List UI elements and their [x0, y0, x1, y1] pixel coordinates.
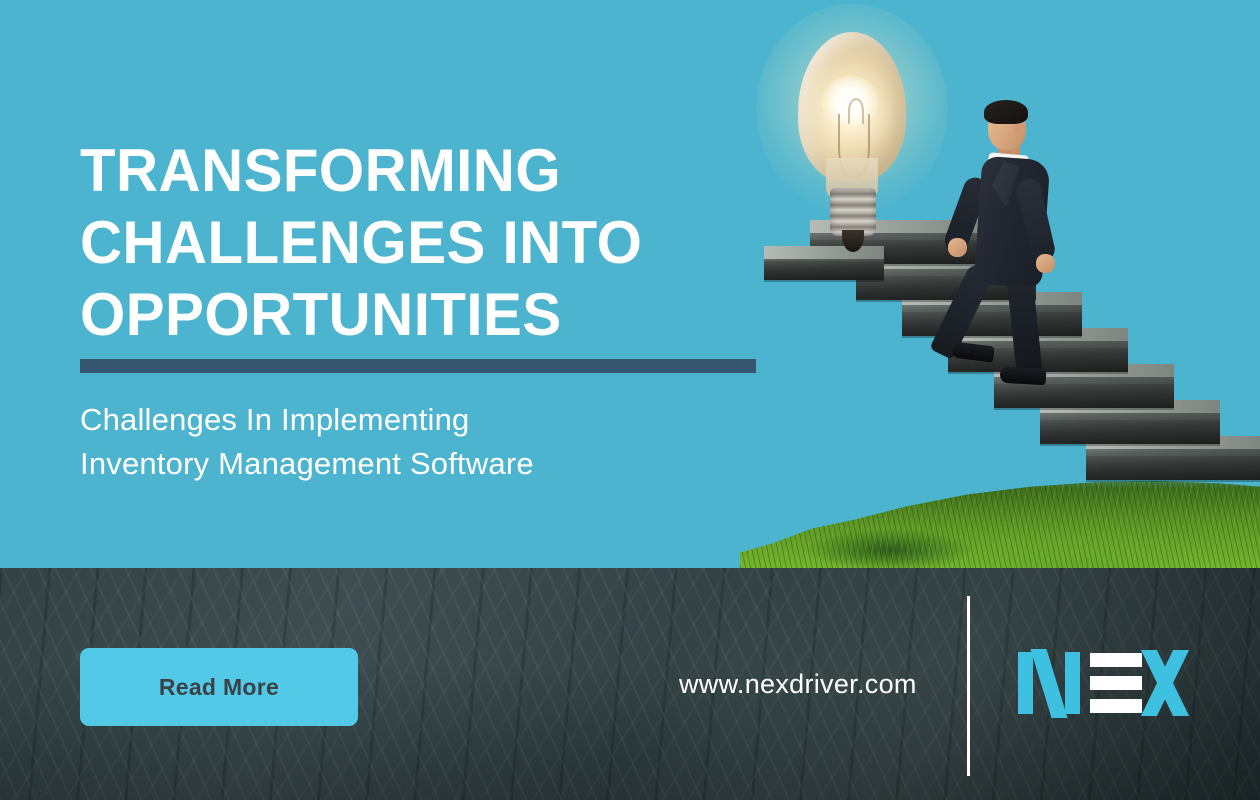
- subtitle-line-2: Inventory Management Software: [80, 442, 780, 486]
- e-bar-bottom: [1090, 699, 1142, 713]
- title-underline-rule: [80, 359, 756, 373]
- promo-banner: TRANSFORMING CHALLENGES INTO OPPORTUNITI…: [0, 0, 1260, 800]
- n-diagonal: [1030, 649, 1067, 718]
- back-fist: [948, 238, 967, 257]
- ear: [1014, 124, 1023, 135]
- website-url: www.nexdriver.com: [679, 669, 917, 700]
- logo-letter-x: [1136, 652, 1194, 714]
- lightbulb-icon: [792, 32, 912, 262]
- headline-line-2: CHALLENGES INTO: [80, 207, 759, 279]
- hero-illustration: [740, 0, 1260, 568]
- n-left-stem: [1018, 652, 1033, 714]
- step-riser: [994, 384, 1174, 408]
- headline-line-3: OPPORTUNITIES: [80, 279, 759, 351]
- read-more-button[interactable]: Read More: [80, 648, 358, 726]
- vertical-divider: [967, 596, 970, 776]
- e-bar-middle: [1090, 676, 1142, 690]
- n-right-stem: [1065, 652, 1080, 714]
- e-bar-top: [1090, 653, 1142, 667]
- back-shoe: [1000, 367, 1047, 385]
- page-title: TRANSFORMING CHALLENGES INTO OPPORTUNITI…: [80, 135, 759, 351]
- hair: [984, 100, 1028, 124]
- businessman-figure: [940, 96, 1072, 386]
- front-fist: [1036, 254, 1055, 273]
- logo-letter-n: [1018, 652, 1080, 714]
- step-riser: [1086, 456, 1260, 480]
- subtitle-line-1: Challenges In Implementing: [80, 398, 780, 442]
- step-riser: [764, 261, 884, 280]
- nex-logo: [1018, 652, 1194, 714]
- back-leg: [1006, 271, 1043, 381]
- logo-letter-e: [1090, 653, 1142, 713]
- front-shoe: [951, 342, 995, 363]
- bulb-screw-base: [830, 188, 876, 236]
- subtitle: Challenges In Implementing Inventory Man…: [80, 398, 780, 486]
- bulb-contact-tip: [842, 230, 864, 252]
- hero-section: TRANSFORMING CHALLENGES INTO OPPORTUNITI…: [0, 0, 1260, 568]
- step-riser: [1040, 420, 1220, 444]
- headline-line-1: TRANSFORMING: [80, 135, 759, 207]
